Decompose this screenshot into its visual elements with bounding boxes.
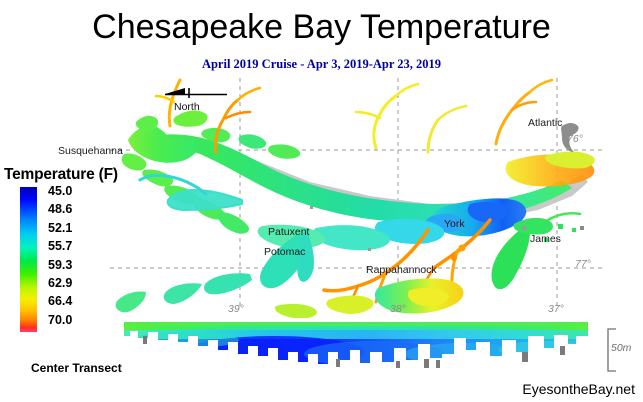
eastern-rivers <box>356 80 552 152</box>
figure-root: Chesapeake Bay Temperature April 2019 Cr… <box>0 0 643 402</box>
map-label-york: York <box>444 218 465 230</box>
grid-label-76: 76° <box>567 133 583 145</box>
transect-temperature-field <box>124 322 588 368</box>
map-label-james: James <box>530 233 561 245</box>
bay-map-svg <box>110 78 605 318</box>
page-subtitle: April 2019 Cruise - Apr 3, 2019-Apr 23, … <box>0 57 643 72</box>
bay-map <box>110 78 605 318</box>
colorbar <box>20 187 37 332</box>
map-label-rappahannock: Rappahannock <box>366 264 437 276</box>
map-label-patuxent: Patuxent <box>268 226 309 238</box>
center-transect-panel <box>124 322 588 368</box>
grid-label-37: 37° <box>548 303 564 315</box>
eastern-shore-shallows <box>506 152 595 187</box>
grid-label-38: 38° <box>390 303 406 315</box>
grid-label-77: 77° <box>575 258 591 270</box>
depth-scale-label: 50m <box>611 342 631 354</box>
map-label-susquehanna: Susquehanna <box>58 145 123 157</box>
north-arrow-icon <box>163 86 229 102</box>
grid-label-39: 39° <box>228 303 244 315</box>
center-transect-caption: Center Transect <box>31 361 122 375</box>
map-label-potomac: Potomac <box>264 246 305 258</box>
map-label-atlantic: Atlantic <box>528 117 562 129</box>
center-transect-svg <box>124 322 588 368</box>
site-watermark: EyesontheBay.net <box>522 381 635 397</box>
page-title: Chesapeake Bay Temperature <box>0 8 643 47</box>
north-arrow-label: North <box>174 101 200 113</box>
lower-bay-warm <box>275 278 463 318</box>
upper-bay <box>122 116 249 234</box>
